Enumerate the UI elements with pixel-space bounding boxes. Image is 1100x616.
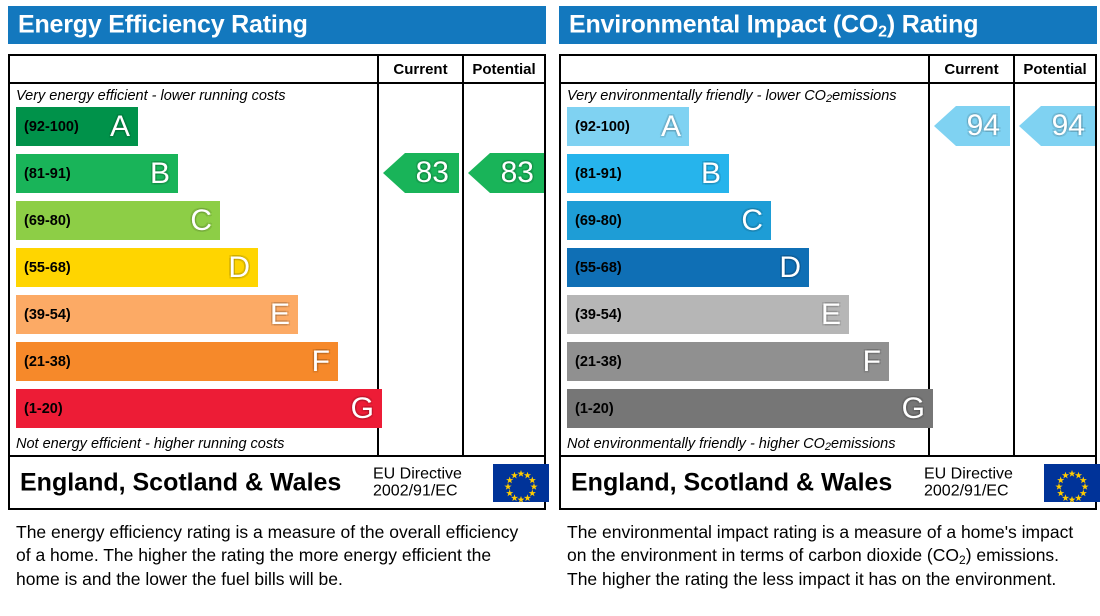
band-range-a-environmental: (92-100)	[575, 119, 630, 135]
band-row-e-energy: (39-54) E	[16, 295, 298, 334]
band-row-b-energy: (81-91) B	[16, 154, 178, 193]
band-letter-d-energy: D	[228, 253, 250, 283]
band-range-c-environmental: (69-80)	[575, 213, 622, 229]
environmental-impact-title-bar: Environmental Impact (CO2) Rating	[559, 6, 1097, 44]
page-title-environmental: Environmental Impact (CO2) Rating	[569, 11, 978, 40]
energy-band-list: (92-100) A (81-91) B (69-80) C (55-68) D…	[10, 107, 377, 433]
title-tail-environmental: ) Rating	[887, 11, 978, 39]
band-row-d-environmental: (55-68) D	[567, 248, 809, 287]
band-row-c-environmental: (69-80) C	[567, 201, 771, 240]
band-range-g-energy: (1-20)	[24, 401, 63, 417]
band-range-d-energy: (55-68)	[24, 260, 71, 276]
caption-bottom-sub-environmental: 2	[825, 441, 831, 453]
footer-directive-line1-environmental: EU Directive	[924, 465, 1013, 482]
band-range-d-environmental: (55-68)	[575, 260, 622, 276]
column-separator-2-environmental	[1013, 84, 1015, 457]
band-range-g-environmental: (1-20)	[575, 401, 614, 417]
environmental-impact-panel: Environmental Impact (CO2) Rating Curren…	[551, 0, 1098, 616]
band-row-f-energy: (21-38) F	[16, 342, 338, 381]
page-title-energy: Energy Efficiency Rating	[18, 11, 308, 40]
band-row-g-energy: (1-20) G	[16, 389, 382, 428]
header-potential-environmental: Potential	[1013, 56, 1095, 82]
footer-region-environmental: England, Scotland & Wales	[571, 468, 892, 497]
title-sub-environmental: 2	[878, 24, 887, 41]
band-row-a-environmental: (92-100) A	[567, 107, 689, 146]
caption-bottom-tail-environmental: emissions	[831, 436, 895, 452]
caption-top-sub-environmental: 2	[826, 93, 832, 105]
band-row-f-environmental: (21-38) F	[567, 342, 889, 381]
band-letter-f-energy: F	[312, 347, 330, 377]
header-current-environmental: Current	[928, 56, 1013, 82]
band-letter-b-energy: B	[150, 159, 170, 189]
band-letter-g-environmental: G	[902, 394, 925, 424]
description-environmental: The environmental impact rating is a mea…	[567, 521, 1087, 591]
header-potential-energy: Potential	[462, 56, 544, 82]
footer-region-energy: England, Scotland & Wales	[20, 468, 341, 497]
potential-rating-value-energy: 83	[501, 158, 534, 188]
band-letter-b-environmental: B	[701, 159, 721, 189]
band-range-e-environmental: (39-54)	[575, 307, 622, 323]
current-rating-value-environmental: 94	[967, 111, 1000, 141]
band-letter-c-energy: C	[190, 206, 212, 236]
band-letter-c-environmental: C	[741, 206, 763, 236]
energy-efficiency-panel: Energy Efficiency Rating Current Potenti…	[0, 0, 547, 616]
potential-rating-marker-energy: 83	[468, 153, 544, 193]
band-row-b-environmental: (81-91) B	[567, 154, 729, 193]
band-letter-e-energy: E	[270, 300, 290, 330]
environmental-impact-chart-box: Current Potential Very environmentally f…	[559, 54, 1097, 510]
band-range-b-energy: (81-91)	[24, 166, 71, 182]
band-row-g-environmental: (1-20) G	[567, 389, 933, 428]
footer-row-energy: England, Scotland & Wales EU Directive 2…	[10, 455, 544, 508]
environmental-table-header-row: Current Potential	[561, 56, 1095, 84]
band-range-f-energy: (21-38)	[24, 354, 71, 370]
band-row-e-environmental: (39-54) E	[567, 295, 849, 334]
energy-efficiency-chart-box: Current Potential Very energy efficient …	[8, 54, 546, 510]
band-range-c-energy: (69-80)	[24, 213, 71, 229]
epc-chart-page: Energy Efficiency Rating Current Potenti…	[0, 0, 1100, 616]
caption-bottom-main-environmental: Not environmentally friendly - higher CO	[567, 436, 825, 452]
band-range-a-energy: (92-100)	[24, 119, 79, 135]
description-sub-environmental: 2	[959, 553, 966, 567]
band-letter-a-environmental: A	[661, 112, 681, 142]
band-row-d-energy: (55-68) D	[16, 248, 258, 287]
band-range-b-environmental: (81-91)	[575, 166, 622, 182]
caption-top-energy: Very energy efficient - lower running co…	[16, 85, 372, 107]
footer-directive-line2-energy: 2002/91/EC	[373, 483, 462, 500]
caption-bottom-energy: Not energy efficient - higher running co…	[16, 433, 372, 455]
band-row-a-energy: (92-100) A	[16, 107, 138, 146]
caption-top-main-environmental: Very environmentally friendly - lower CO	[567, 88, 826, 104]
caption-top-tail-environmental: emissions	[832, 88, 896, 104]
caption-top-environmental: Very environmentally friendly - lower CO…	[567, 85, 923, 107]
current-rating-value-energy: 83	[416, 158, 449, 188]
band-range-e-energy: (39-54)	[24, 307, 71, 323]
environmental-band-list: (92-100) A (81-91) B (69-80) C (55-68) D…	[561, 107, 928, 433]
footer-directive-line1-energy: EU Directive	[373, 465, 462, 482]
current-rating-marker-energy: 83	[383, 153, 459, 193]
footer-directive-line2-environmental: 2002/91/EC	[924, 483, 1013, 500]
band-row-c-energy: (69-80) C	[16, 201, 220, 240]
current-rating-marker-environmental: 94	[934, 106, 1010, 146]
header-current-energy: Current	[377, 56, 462, 82]
band-range-f-environmental: (21-38)	[575, 354, 622, 370]
caption-bottom-environmental: Not environmentally friendly - higher CO…	[567, 433, 923, 455]
band-letter-e-environmental: E	[821, 300, 841, 330]
potential-rating-marker-environmental: 94	[1019, 106, 1095, 146]
title-main-environmental: Environmental Impact (CO	[569, 11, 878, 39]
band-letter-f-environmental: F	[863, 347, 881, 377]
band-letter-g-energy: G	[351, 394, 374, 424]
description-energy: The energy efficiency rating is a measur…	[16, 521, 536, 591]
band-letter-d-environmental: D	[779, 253, 801, 283]
band-letter-a-energy: A	[110, 112, 130, 142]
footer-directive-energy: EU Directive 2002/91/EC	[373, 465, 462, 500]
eu-flag-icon-energy	[493, 464, 549, 502]
footer-row-environmental: England, Scotland & Wales EU Directive 2…	[561, 455, 1095, 508]
footer-directive-environmental: EU Directive 2002/91/EC	[924, 465, 1013, 500]
energy-efficiency-title-bar: Energy Efficiency Rating	[8, 6, 546, 44]
energy-table-header-row: Current Potential	[10, 56, 544, 84]
potential-rating-value-environmental: 94	[1052, 111, 1085, 141]
column-separator-2-energy	[462, 84, 464, 457]
eu-flag-icon-environmental	[1044, 464, 1100, 502]
